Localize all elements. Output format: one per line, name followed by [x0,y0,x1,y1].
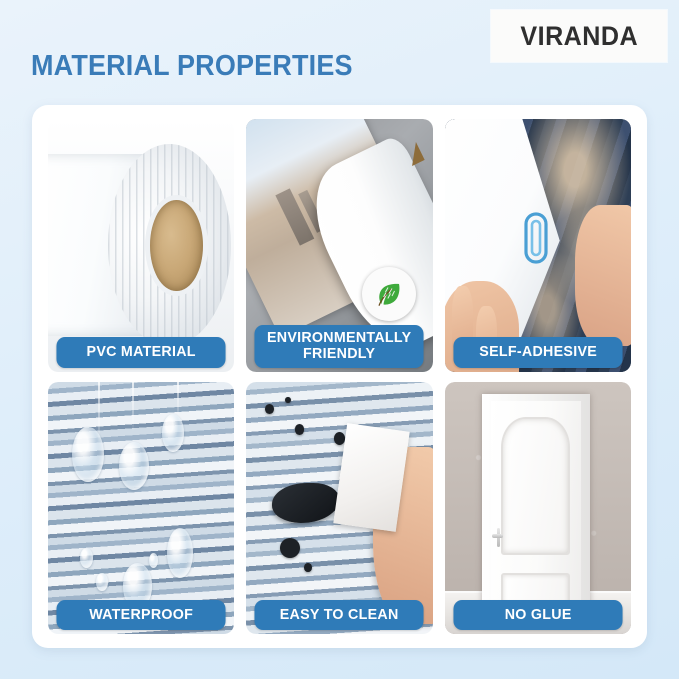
stain-shape [334,432,345,445]
large-stain-shape [272,483,339,523]
door-upper-panel-shape [501,417,570,555]
water-drop-shape [72,427,104,483]
easy-to-clean-photo [246,382,432,635]
feature-card-pvc-material[interactable]: PVC MATERIAL [48,119,234,372]
right-hand-shape [575,205,631,346]
feature-label-no-glue: NO GLUE [453,600,622,630]
paperclip-icon [521,210,551,266]
feature-label-easy-to-clean: EASY TO CLEAN [255,600,424,630]
label-line-1: ENVIRONMENTALLY [259,330,421,346]
feature-card-waterproof[interactable]: WATERPROOF [48,382,234,635]
stain-shape [285,397,291,403]
water-drop-shape [80,548,93,568]
feature-card-no-glue[interactable]: NO GLUE [445,382,631,635]
water-drop-shape [149,553,158,568]
feature-card-easy-to-clean[interactable]: EASY TO CLEAN [246,382,432,635]
door-frame-shape [482,394,590,626]
water-drop-shape [119,442,149,490]
cleaning-cloth-shape [333,423,410,532]
brand-logo-box: VIRANDA [491,10,667,62]
stain-shape [265,404,274,414]
brand-logo-text: VIRANDA [520,21,638,52]
feature-label-environmentally-friendly: ENVIRONMENTALLY FRIENDLY [255,325,424,367]
feature-label-self-adhesive: SELF-ADHESIVE [453,337,622,367]
label-line-2: FRIENDLY [259,346,421,362]
pvc-roll-photo [48,119,234,372]
no-glue-door-photo [445,382,631,635]
water-streak-shape [132,382,134,433]
self-adhesive-photo [445,119,631,372]
water-streak-shape [177,382,179,420]
door-leaf-shape [491,401,582,624]
waterproof-photo [48,382,234,635]
stain-shape [280,538,300,558]
water-drop-shape [96,573,107,591]
door-handle-shape [492,528,507,555]
roll-cardboard-core-shape [150,200,202,291]
water-drop-shape [167,528,193,579]
feature-label-waterproof: WATERPROOF [56,600,225,630]
feature-card-self-adhesive[interactable]: SELF-ADHESIVE [445,119,631,372]
feature-label-pvc-material: PVC MATERIAL [56,337,225,367]
water-drop-shape [162,414,184,452]
features-panel: PVC MATERIAL [32,105,647,648]
leaf-icon [362,267,416,321]
feature-card-environmentally-friendly[interactable]: ENVIRONMENTALLY FRIENDLY [246,119,432,372]
stain-shape [304,563,311,572]
features-grid: PVC MATERIAL [48,119,631,634]
page-title: MATERIAL PROPERTIES [31,50,353,83]
stain-shape [295,424,304,434]
